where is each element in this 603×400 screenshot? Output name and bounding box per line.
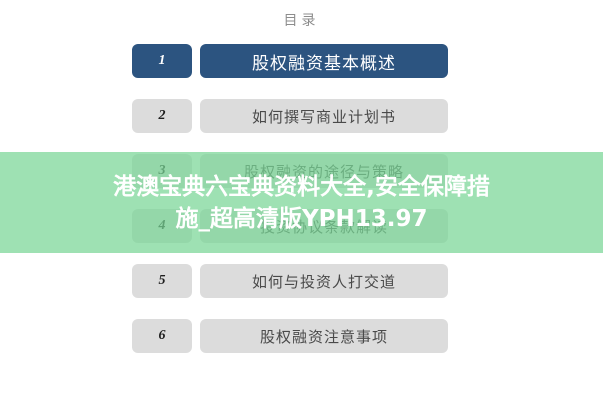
toc-item-number: 5 xyxy=(132,264,192,298)
list-item[interactable]: 1 股权融资基本概述 xyxy=(0,44,603,78)
list-item[interactable]: 3 股权融资的途径与策略 xyxy=(0,154,603,188)
toc-item-title: 如何撰写商业计划书 xyxy=(200,99,448,133)
list-item[interactable]: 2 如何撰写商业计划书 xyxy=(0,99,603,133)
toc-list: 1 股权融资基本概述 2 如何撰写商业计划书 3 股权融资的途径与策略 4 投资… xyxy=(0,44,603,374)
list-item[interactable]: 4 投资协议条款解读 xyxy=(0,209,603,243)
toc-item-title: 股权融资基本概述 xyxy=(200,44,448,78)
list-item[interactable]: 5 如何与投资人打交道 xyxy=(0,264,603,298)
toc-item-title: 投资协议条款解读 xyxy=(200,209,448,243)
toc-item-title: 股权融资的途径与策略 xyxy=(200,154,448,188)
toc-item-number: 3 xyxy=(132,154,192,188)
presentation-slide: 目录 1 股权融资基本概述 2 如何撰写商业计划书 3 股权融资的途径与策略 4… xyxy=(0,0,603,400)
list-item[interactable]: 6 股权融资注意事项 xyxy=(0,319,603,353)
toc-item-number: 6 xyxy=(132,319,192,353)
toc-item-title: 股权融资注意事项 xyxy=(200,319,448,353)
page-title: 目录 xyxy=(0,10,603,30)
toc-item-number: 4 xyxy=(132,209,192,243)
toc-item-number: 1 xyxy=(132,44,192,78)
toc-item-number: 2 xyxy=(132,99,192,133)
toc-item-title: 如何与投资人打交道 xyxy=(200,264,448,298)
